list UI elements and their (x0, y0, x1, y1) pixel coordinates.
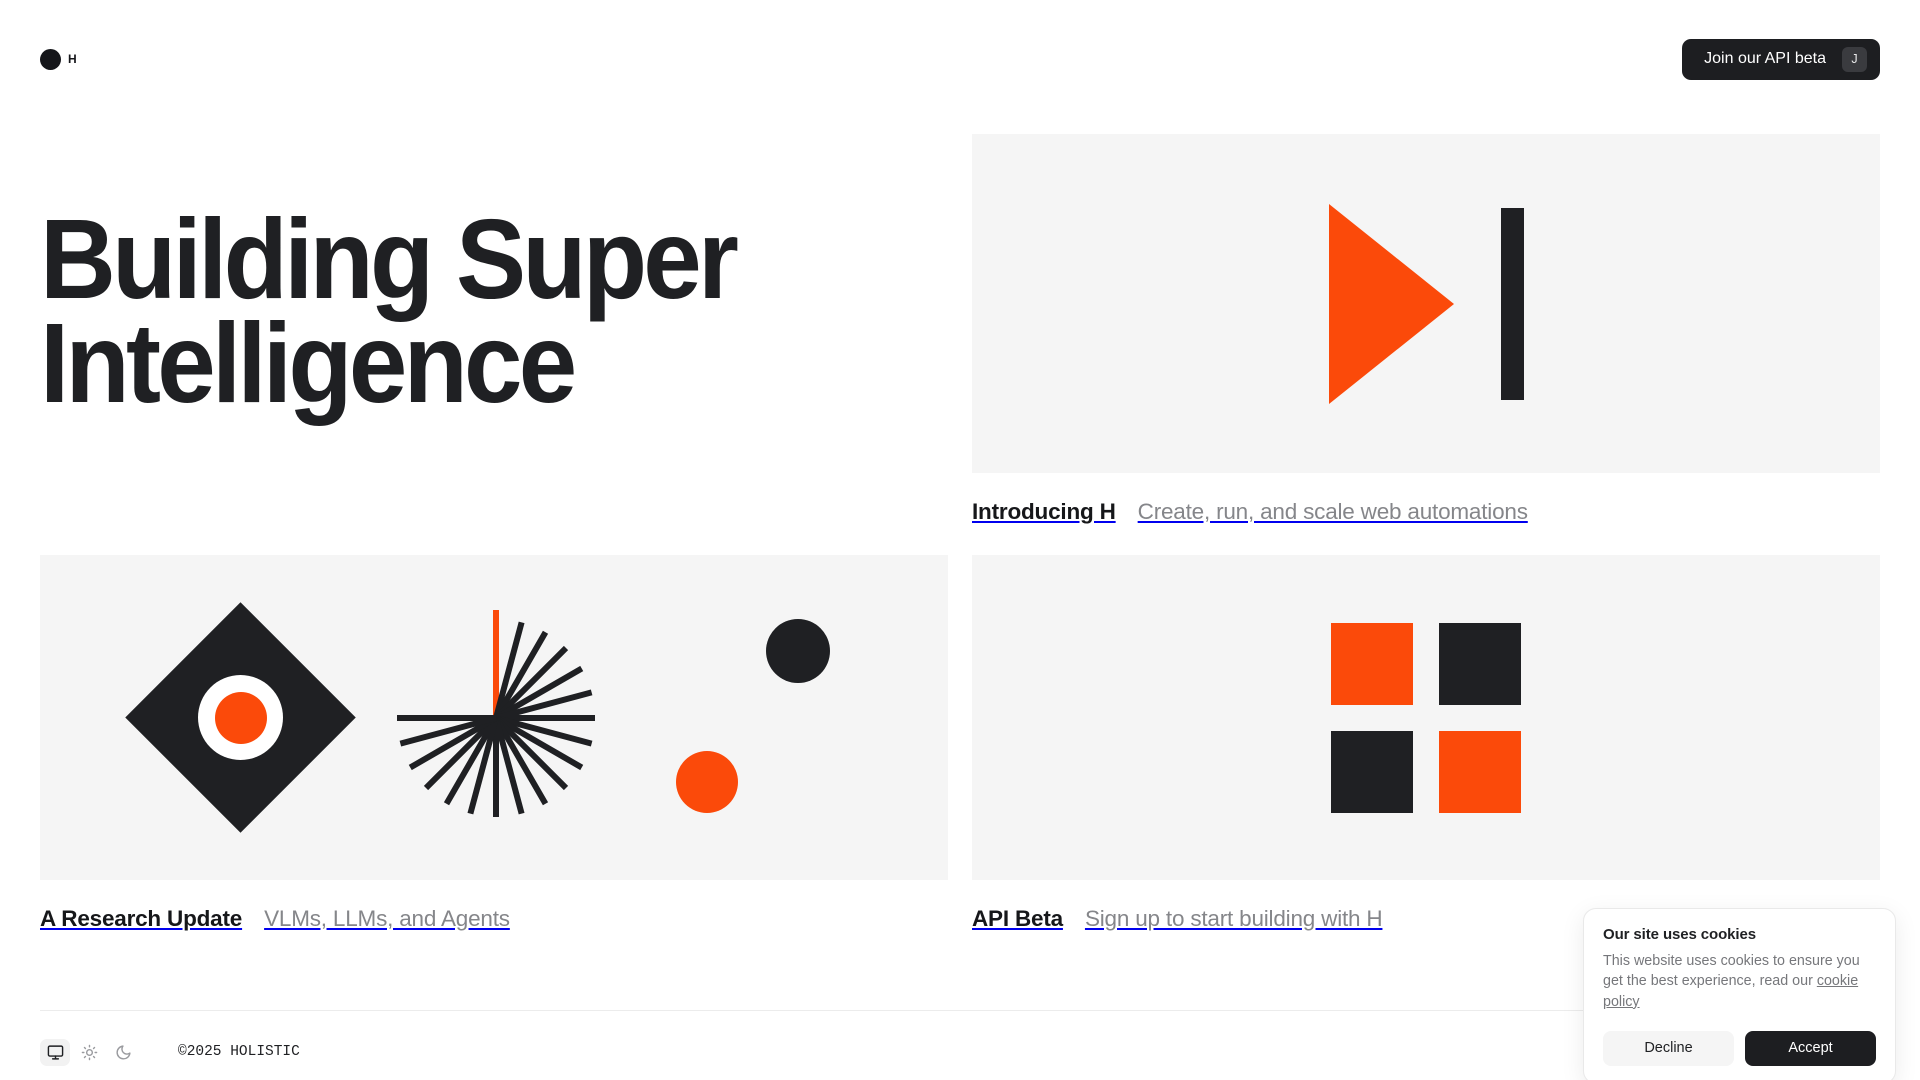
grid-square-orange-tl (1331, 623, 1413, 705)
card-research-update[interactable]: A Research Update VLMs, LLMs, and Agents (40, 555, 948, 932)
grid-square-orange-br (1439, 731, 1521, 813)
copyright-text: ©2025 HOLISTIC (178, 1044, 300, 1060)
card-introducing-h[interactable]: Introducing H Create, run, and scale web… (972, 134, 1880, 525)
radial-burst-icon (376, 598, 616, 838)
logo-mark-label: H (68, 52, 77, 66)
sun-icon (81, 1044, 98, 1061)
moon-icon (115, 1044, 132, 1061)
card-media-research-update (40, 555, 948, 880)
cookie-dialog-actions: Decline Accept (1603, 1031, 1876, 1066)
card-title: A Research Update (40, 905, 242, 932)
diamond-core-dot (214, 692, 266, 744)
card-subtitle: VLMs, LLMs, and Agents (264, 905, 510, 932)
site-header: H Join our API beta J (0, 0, 1920, 118)
research-graphic (40, 598, 948, 838)
card-caption: Introducing H Create, run, and scale web… (972, 498, 1880, 525)
card-api-beta[interactable]: API Beta Sign up to start building with … (972, 555, 1880, 932)
logo-circle-icon (40, 49, 61, 70)
hero-line-2: Intelligence (40, 312, 803, 416)
checker-grid-icon (1331, 623, 1521, 813)
diamond-inner-circle (198, 675, 283, 760)
hero-line-1: Building Super (40, 208, 803, 312)
theme-dark-button[interactable] (108, 1039, 138, 1066)
card-subtitle: Create, run, and scale web automations (1138, 498, 1528, 525)
play-triangle-icon (1329, 204, 1454, 404)
card-subtitle: Sign up to start building with H (1085, 905, 1383, 932)
join-api-beta-button[interactable]: Join our API beta J (1682, 39, 1880, 80)
grid-square-dark-bl (1331, 731, 1413, 813)
decline-cookies-button[interactable]: Decline (1603, 1031, 1734, 1066)
join-api-beta-label: Join our API beta (1704, 51, 1826, 67)
monitor-icon (47, 1044, 64, 1061)
dots-graphic (670, 613, 830, 823)
vertical-bar-icon (1501, 208, 1524, 400)
cookie-dialog-title: Our site uses cookies (1603, 926, 1876, 943)
card-title: API Beta (972, 905, 1063, 932)
card-caption: A Research Update VLMs, LLMs, and Agents (40, 905, 948, 932)
diamond-target-icon (125, 602, 356, 833)
cookie-dialog-body: This website uses cookies to ensure you … (1603, 951, 1876, 1012)
card-title: Introducing H (972, 498, 1116, 525)
theme-light-button[interactable] (74, 1039, 104, 1066)
play-graphic (1329, 204, 1524, 404)
keyboard-shortcut-badge: J (1842, 47, 1867, 72)
theme-system-button[interactable] (40, 1039, 70, 1066)
dark-dot-icon (766, 619, 830, 683)
card-media-introducing-h (972, 134, 1880, 473)
card-media-api-beta (972, 555, 1880, 880)
page-title: Building Super Intelligence (40, 208, 803, 416)
theme-switcher (40, 1039, 138, 1066)
accept-cookies-button[interactable]: Accept (1745, 1031, 1876, 1066)
grid-square-dark-tr (1439, 623, 1521, 705)
cookie-consent-dialog: Our site uses cookies This website uses … (1583, 908, 1896, 1080)
logo[interactable]: H (40, 49, 77, 70)
orange-dot-icon (676, 751, 738, 813)
page-root: H Join our API beta J Building Super Int… (0, 0, 1920, 1080)
